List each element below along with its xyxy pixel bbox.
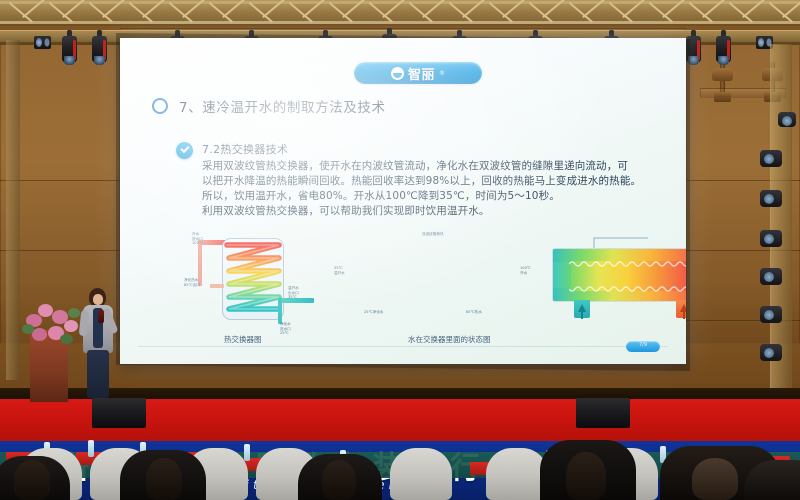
section-paragraph: 所以，饮用温开水，省电80%。开水从100℃降到35℃，时间为5～10秒。: [202, 189, 646, 204]
label-warm-outlet: 温开水出水口35℃: [288, 286, 299, 300]
exchanger-vessel: [222, 238, 284, 320]
flower-petal: [32, 328, 47, 341]
audience-head: [566, 452, 606, 500]
side-light: [760, 230, 782, 247]
coil-svg: [222, 239, 284, 320]
flower-petal: [64, 320, 78, 332]
diagram-caption: 热交换器图: [224, 334, 262, 345]
leg-arrows: [552, 300, 686, 324]
audience-head: [692, 458, 738, 500]
corrugation-bottom: [569, 285, 686, 293]
projection-screen: 智丽 ® 7、速冷温开水的制取方法及技术 7.2热交换器技术 采用双波纹管热交换…: [120, 38, 686, 364]
audience-head: [322, 460, 356, 500]
section-title: 7.2热交换器技术: [202, 141, 646, 157]
page-title: 7、速冷温开水的制取方法及技术: [179, 96, 386, 116]
ceiling-truss: [0, 0, 800, 26]
brand-logo-badge: 智丽 ®: [354, 62, 482, 84]
side-light: [760, 268, 782, 285]
diagram-area: 开水进水口100℃ 净化热水85℃出口 温开水出水口35℃ 净化水进水口25℃ …: [180, 234, 626, 346]
label-double-wave-exchange: 双波纹管换热: [422, 232, 444, 237]
microphone: [98, 310, 104, 323]
chair: [390, 448, 452, 500]
flower-foliage: [22, 324, 34, 334]
label-purified-inlet: 净化水进水口25℃: [280, 322, 291, 336]
section-paragraph: 以把开水降温的热能瞬间回收。热能回收率达到98%以上，回收的热能马上变成进水的热…: [202, 174, 646, 189]
side-light: [760, 190, 782, 207]
side-light: [760, 150, 782, 167]
trademark-symbol: ®: [439, 70, 445, 77]
label-purified-water-bottom: 25℃净化水: [364, 310, 383, 315]
right-side-truss: [770, 44, 792, 394]
side-light: [778, 112, 796, 127]
water-bottle: [244, 444, 250, 461]
flower-arrangement: [22, 300, 82, 346]
label-purified-hot-outlet: 净化热水85℃出口: [184, 278, 200, 287]
audience-head: [14, 460, 50, 500]
corrugation-top: [569, 260, 686, 268]
section-block: 7.2热交换器技术 采用双波纹管热交换器，使开水在内波纹管流动，净化水在双波纹管…: [176, 141, 646, 219]
left-side-truss: [6, 40, 20, 380]
label-hot-water-right: 100℃开水: [520, 266, 531, 275]
page-badge-label: 7/9: [626, 342, 660, 348]
par-light: [34, 36, 51, 49]
slide-divider: [138, 346, 668, 347]
callout-line: [592, 232, 662, 250]
smile-circle-icon: [391, 67, 404, 80]
slide-heading: 7、速冷温开水的制取方法及技术: [152, 96, 386, 116]
purified-water-inlet-pipe: [278, 298, 282, 324]
presenter: [78, 288, 118, 400]
section-paragraph: 利用双波纹管热交换器，可以帮助我们实现即时饮用温开水。: [202, 204, 646, 219]
section-paragraph: 采用双波纹管热交换器，使开水在内波纹管流动，净化水在双波纹管的缝隙里递向流动，可: [202, 159, 646, 174]
page-badge: 7/9: [626, 341, 660, 352]
diagram-caption: 水在交换器里面的状态图: [408, 334, 491, 345]
ring-bullet-icon: [152, 98, 168, 114]
flower-petal: [38, 304, 53, 317]
brand-name: 智丽: [408, 64, 435, 83]
purified-hot-water-outlet: [210, 284, 224, 288]
side-light: [760, 306, 782, 323]
water-state-diagram: 双波纹管换热 35℃温开水 100℃开水 25℃净化水 85℃热水 水在交换器里…: [330, 234, 626, 346]
heat-exchanger-vessel-diagram: 开水进水口100℃ 净化热水85℃出口 温开水出水口35℃ 净化水进水口25℃ …: [180, 234, 330, 346]
conference-hall-scene: 智丽 ® 7、速冷温开水的制取方法及技术 7.2热交换器技术 采用双波纹管热交换…: [0, 0, 800, 500]
label-warm-water-left: 35℃温开水: [334, 266, 345, 275]
water-bottle: [88, 440, 94, 457]
check-circle-icon: [176, 142, 193, 159]
presenter-face: [93, 294, 103, 305]
side-light: [760, 344, 782, 361]
stage-monitor-speaker: [576, 398, 630, 428]
label-hot-inlet: 开水进水口100℃: [192, 232, 203, 246]
corrugated-tube-assembly: [552, 248, 686, 302]
tube-shell: [552, 248, 686, 302]
flower-foliage: [60, 334, 73, 344]
audience-head: [146, 458, 182, 500]
presenter-trousers: [87, 350, 109, 398]
stage-monitor-speaker: [92, 398, 146, 428]
label-hot-water-bottom: 85℃热水: [466, 310, 482, 315]
chair: [486, 448, 548, 500]
